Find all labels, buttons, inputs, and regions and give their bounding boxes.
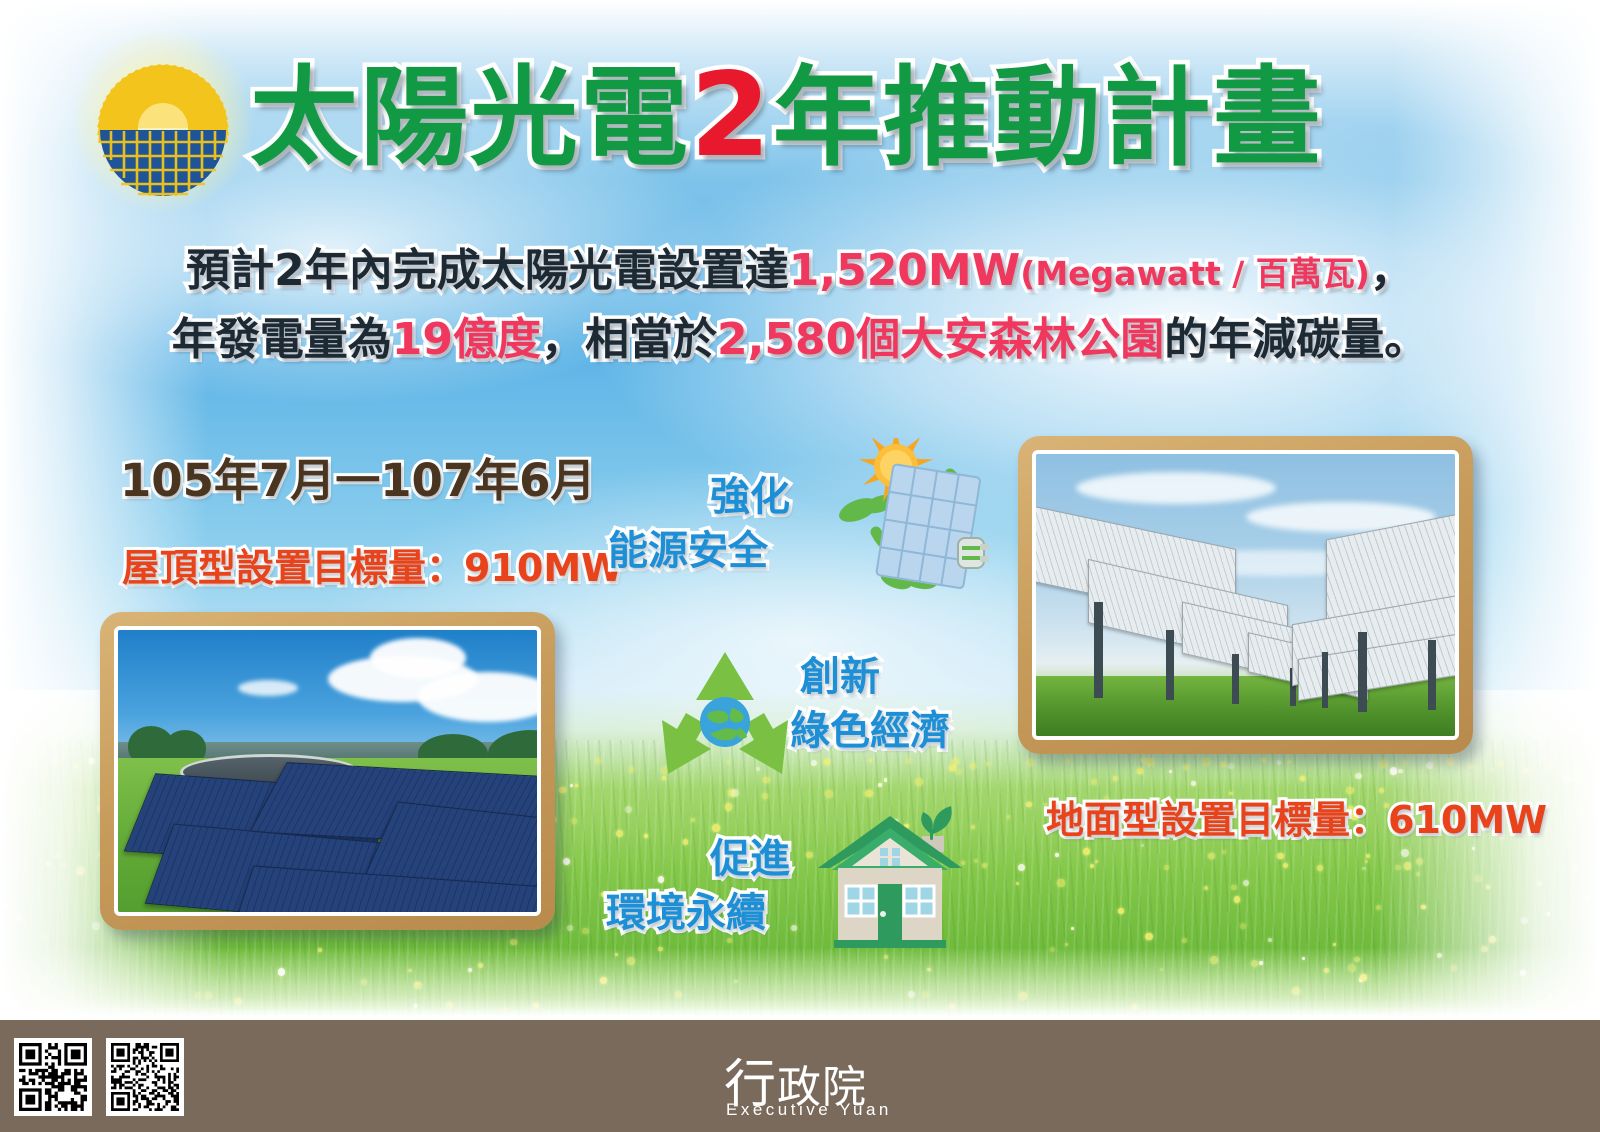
subtitle-line-1: 預計2年內完成太陽光電設置達1,520MW(Megawatt / 百萬瓦)， — [0, 238, 1600, 307]
feature-economy-line2: 綠色經濟 — [790, 706, 950, 756]
qr-code-left[interactable] — [14, 1038, 92, 1116]
sub-line-1-seg-3: ， — [1370, 245, 1414, 296]
title-segment-2: 年推動計畫 — [773, 49, 1323, 189]
plug-icon — [958, 538, 989, 568]
rooftop-target-label: 屋頂型設置目標量：910MW — [122, 537, 623, 592]
title-segment-1: 2 — [690, 46, 773, 186]
solar-sun-panel-logo — [88, 44, 238, 196]
feature-environment-sustainability: 促進 環境永續 — [598, 812, 998, 962]
sub-line-2-seg-4: 的年減碳量。 — [1164, 314, 1428, 365]
sub-line-1-seg-1: 1,520MW — [789, 245, 1021, 296]
executive-yuan-logo: 行政院 Executive Yuan — [724, 1042, 884, 1120]
feature-energy-security: 強化 能源安全 — [600, 452, 990, 602]
qr-code-right[interactable] — [106, 1038, 184, 1116]
tracker-post — [1232, 654, 1239, 704]
project-date-range: 105年7月一107年6月 — [120, 444, 596, 509]
cloud — [238, 680, 298, 696]
solar-panel-sun-plug-icon — [822, 438, 992, 603]
sub-line-2-seg-1: 19億度 — [392, 314, 541, 365]
ground-photo-inner — [1032, 450, 1459, 740]
tracker-post — [1358, 632, 1367, 712]
qr-code-group — [14, 1038, 184, 1116]
recycle-globe-icon — [650, 646, 800, 801]
footer-bar: 行政院 Executive Yuan 政策廣告 歡迎轉貼 cc $ — [0, 1020, 1600, 1132]
tracker-post — [1322, 652, 1328, 708]
tracker-post — [1428, 640, 1436, 710]
cloud — [370, 638, 466, 678]
ground-target-label: 地面型設置目標量：610MW — [1046, 789, 1547, 844]
feature-env-line2: 環境永續 — [606, 888, 766, 938]
eco-house-icon — [810, 802, 970, 957]
feature-env-line1: 促進 — [710, 834, 790, 884]
sub-line-2-seg-0: 年發電量為 — [172, 314, 392, 365]
rooftop-photo-inner — [114, 626, 541, 916]
rooftop-solar-photo — [100, 612, 555, 930]
tracker-post — [1166, 630, 1174, 700]
feature-energy-line1: 強化 — [710, 472, 790, 522]
subtitle-block: 預計2年內完成太陽光電設置達1,520MW(Megawatt / 百萬瓦)， 年… — [0, 238, 1600, 373]
sub-line-2-seg-3: 2,580個大安森林公園 — [717, 314, 1164, 365]
poster-root: 太陽光電2年推動計畫 預計2年內完成太陽光電設置達1,520MW(Megawat… — [0, 0, 1600, 1132]
subtitle-line-2: 年發電量為19億度，相當於2,580個大安森林公園的年減碳量。 — [0, 307, 1600, 373]
feature-economy-line1: 創新 — [800, 652, 880, 702]
sub-line-2-seg-2: ，相當於 — [541, 314, 717, 365]
cloud — [1076, 472, 1276, 504]
feature-green-economy: 創新 綠色經濟 — [650, 640, 1040, 790]
window-left — [846, 886, 876, 916]
sub-line-1-seg-0: 預計2年內完成太陽光電設置達 — [186, 245, 789, 296]
leaf-sprout-icon — [921, 806, 951, 840]
feature-energy-line2: 能源安全 — [608, 526, 768, 576]
logo-graphic — [88, 44, 238, 196]
page-title: 太陽光電2年推動計畫 — [250, 46, 1323, 186]
sub-line-1-seg-2: (Megawatt / 百萬瓦) — [1020, 254, 1370, 293]
executive-yuan-mark-en: Executive Yuan — [726, 1100, 892, 1120]
ground-solar-photo — [1018, 436, 1473, 754]
tracker-post — [1094, 602, 1103, 698]
window-right — [904, 886, 934, 916]
title-segment-0: 太陽光電 — [250, 49, 690, 189]
